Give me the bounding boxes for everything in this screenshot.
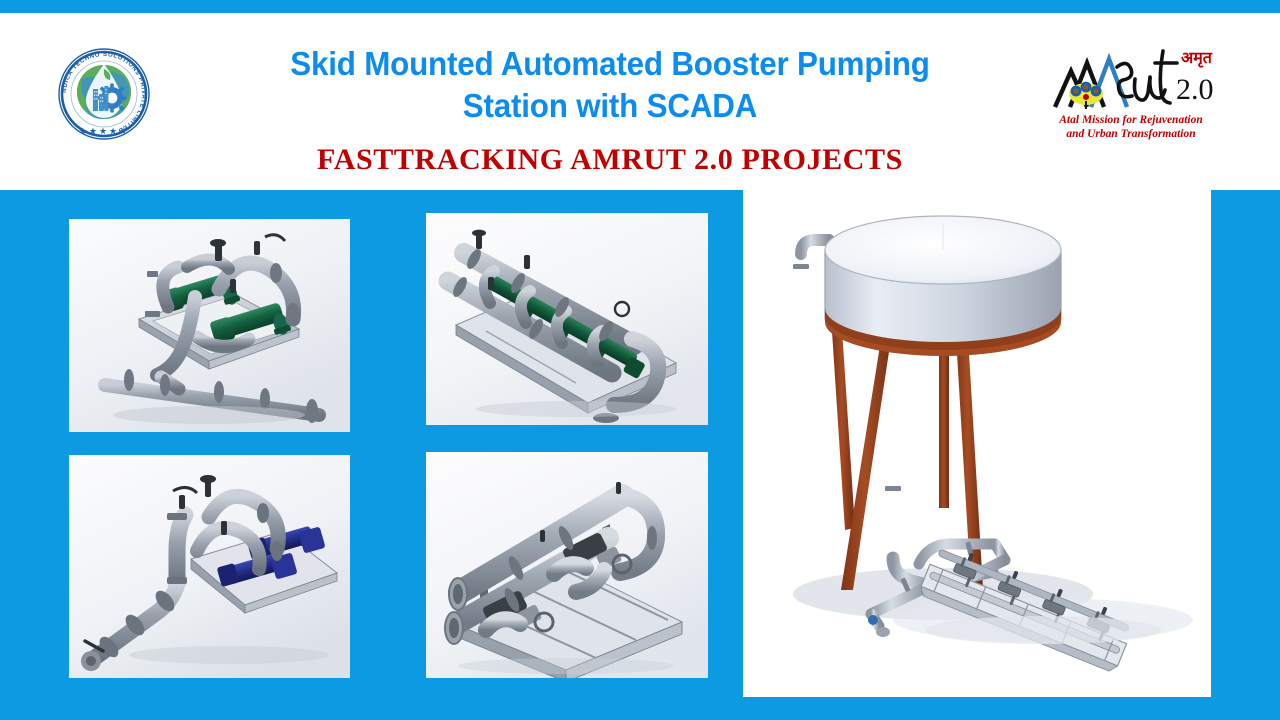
amrut-2-0-logo: अमृत 2.0 Atal Mission for Rejuvenation a…	[1043, 37, 1223, 149]
cad-image-2	[426, 213, 708, 425]
amrut-devanagari: अमृत	[1181, 48, 1213, 68]
page-subtitle: FASTTRACKING AMRUT 2.0 PROJECTS	[210, 143, 1010, 177]
cad-render-blue-pump-skid[interactable]	[69, 455, 350, 678]
cad-render-grey-pump-skid[interactable]	[426, 452, 708, 678]
logo-stars: ★★★★★	[79, 127, 129, 137]
amrut-version: 2.0	[1176, 73, 1214, 106]
aquaindica-logo: AQUAINDICA TECHNO SOLUTIONS PRIVATE LIMI…	[52, 42, 156, 146]
cad-image-4	[426, 452, 708, 678]
cad-render-twin-pump-skid[interactable]	[69, 219, 350, 432]
svg-text:★★★★★: ★★★★★	[79, 127, 129, 137]
cad-render-multi-pump-skid[interactable]	[426, 213, 708, 425]
amrut-tagline-line2: and Urban Transformation	[1066, 128, 1195, 140]
slide-root: AQUAINDICA TECHNO SOLUTIONS PRIVATE LIMI…	[0, 0, 1280, 720]
cad-render-overhead-tank-with-booster-skid[interactable]	[743, 190, 1211, 697]
title-block: Skid Mounted Automated Booster Pumping S…	[210, 43, 1010, 177]
page-title: Skid Mounted Automated Booster Pumping S…	[230, 43, 990, 127]
slide-header: AQUAINDICA TECHNO SOLUTIONS PRIVATE LIMI…	[0, 13, 1280, 190]
cad-image-1	[69, 219, 350, 432]
amrut-tagline-line1: Atal Mission for Rejuvenation	[1058, 114, 1202, 126]
cad-image-5	[743, 190, 1211, 697]
top-accent-bar	[0, 0, 1280, 13]
cad-image-3	[69, 455, 350, 678]
